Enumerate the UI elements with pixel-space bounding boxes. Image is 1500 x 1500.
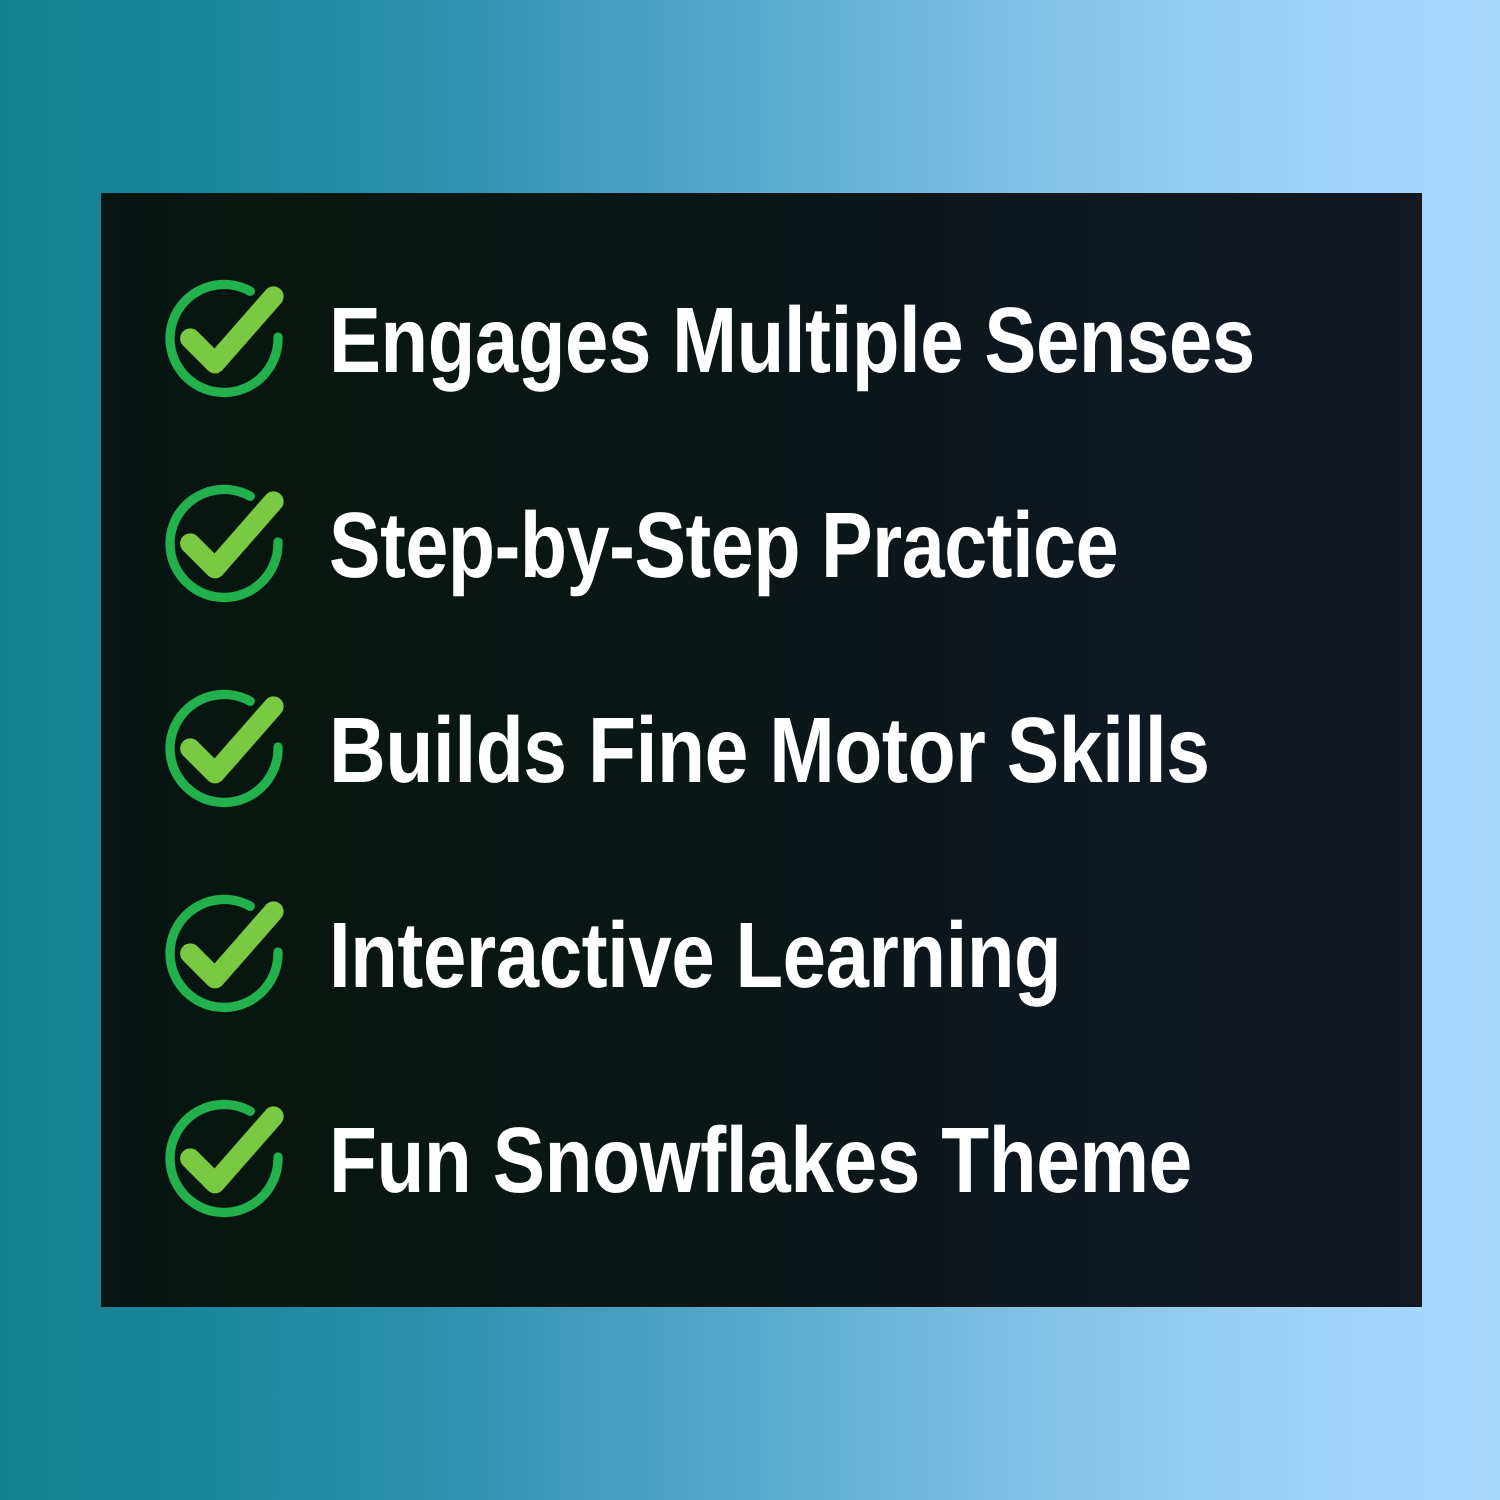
- list-item[interactable]: Builds Fine Motor Skills: [149, 670, 1419, 830]
- screenshot-canvas: Engages Multiple Senses Step-by-Step Pra…: [0, 0, 1500, 1500]
- list-item[interactable]: Engages Multiple Senses: [149, 260, 1419, 420]
- list-item-label: Builds Fine Motor Skills: [329, 704, 1250, 797]
- check-circle-icon: [149, 880, 299, 1030]
- list-item[interactable]: Interactive Learning: [149, 875, 1419, 1035]
- list-item-label: Step-by-Step Practice: [329, 499, 1234, 592]
- feature-checklist-card: Engages Multiple Senses Step-by-Step Pra…: [101, 193, 1422, 1307]
- list-item-label: Fun Snowflakes Theme: [329, 1114, 1248, 1207]
- list-item[interactable]: Step-by-Step Practice: [149, 465, 1419, 625]
- check-circle-icon: [149, 470, 299, 620]
- check-circle-icon: [149, 675, 299, 825]
- list-item[interactable]: Fun Snowflakes Theme: [149, 1080, 1419, 1240]
- check-circle-icon: [149, 1085, 299, 1235]
- list-item-label: Engages Multiple Senses: [329, 294, 1255, 387]
- checklist: Engages Multiple Senses Step-by-Step Pra…: [101, 193, 1422, 1307]
- list-item-label: Interactive Learning: [329, 909, 1242, 1002]
- check-circle-icon: [149, 265, 299, 415]
